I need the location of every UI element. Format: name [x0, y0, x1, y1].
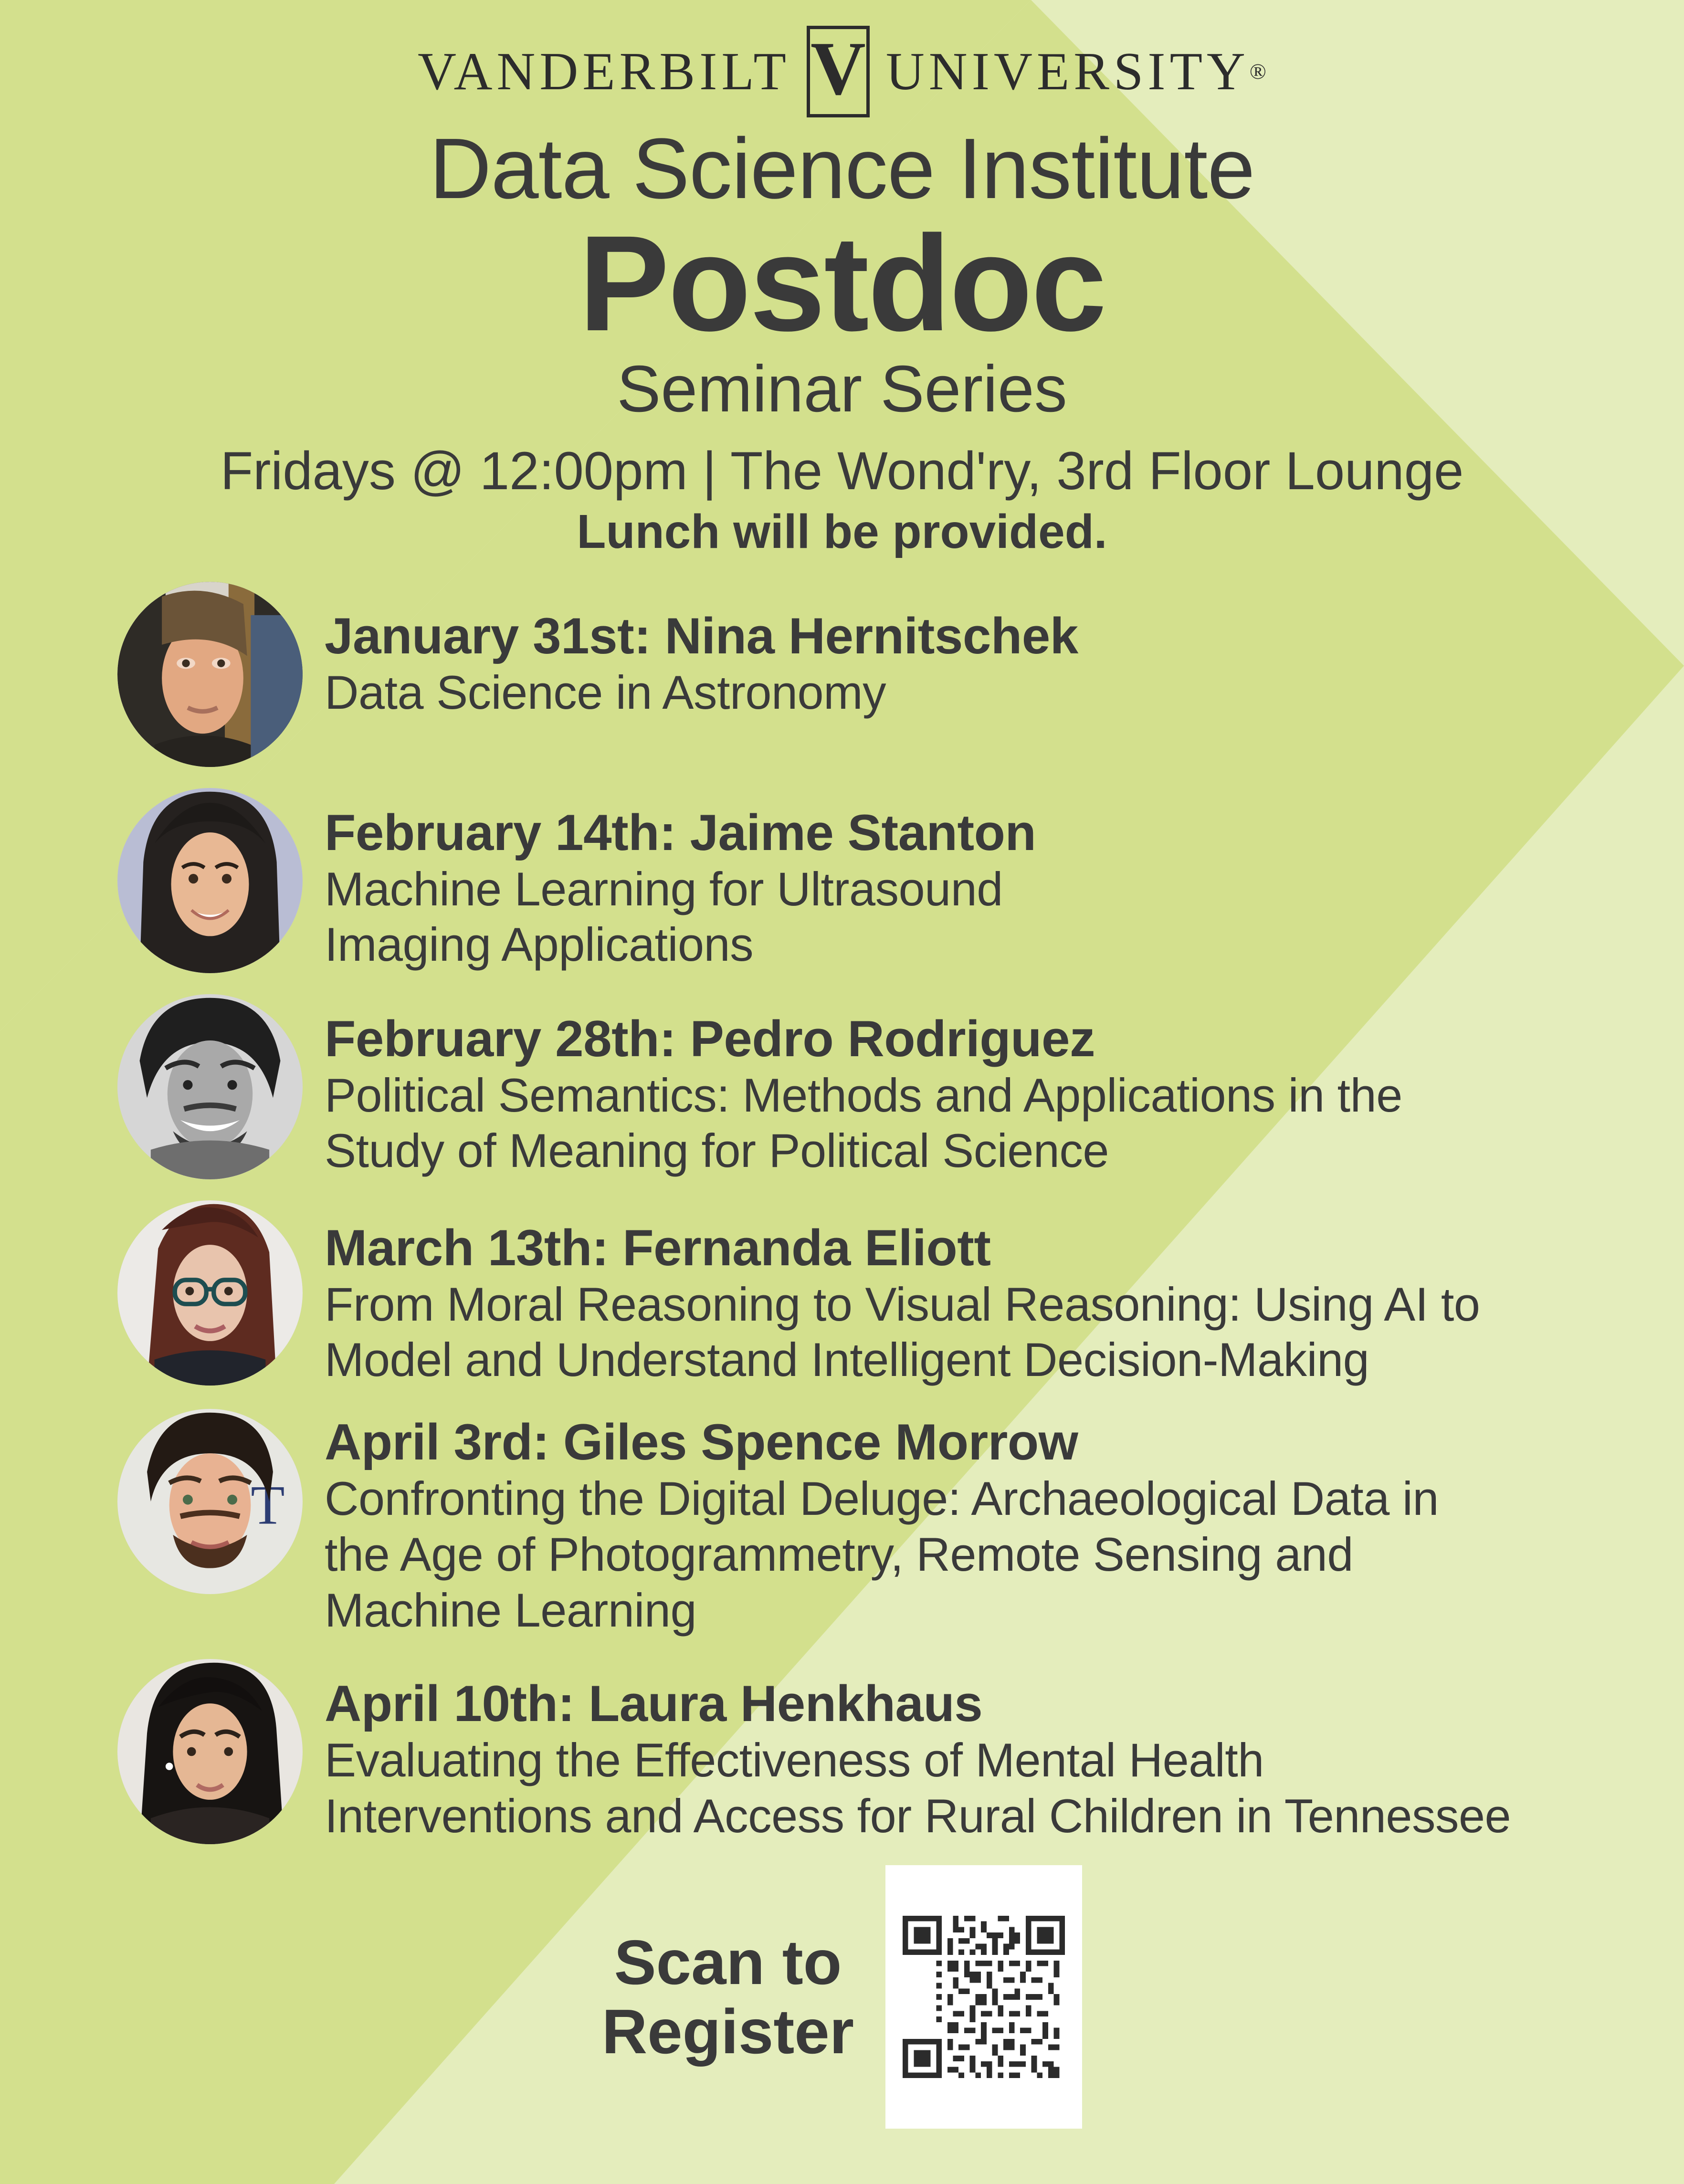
speaker-list: January 31st: Nina Hernitschek Data Scie… [0, 580, 1684, 1845]
speaker-headline: January 31st: Nina Hernitschek [325, 608, 1684, 665]
logo-word-university: UNIVERSITY® [886, 45, 1266, 98]
talk-line: Confronting the Digital Deluge: Archaeol… [325, 1471, 1684, 1527]
speaker-headline: April 3rd: Giles Spence Morrow [325, 1414, 1684, 1471]
list-item: February 14th: Jaime Stanton Machine Lea… [0, 788, 1684, 973]
speaker-headline: February 14th: Jaime Stanton [325, 804, 1684, 861]
talk-line: Political Semantics: Methods and Applica… [325, 1068, 1684, 1123]
logo-word-vanderbilt: VANDERBILT [418, 45, 790, 98]
institute-name: Data Science Institute [0, 125, 1684, 213]
registered-trademark-icon: ® [1250, 59, 1266, 84]
scan-line-1: Scan to [602, 1928, 854, 1997]
talk-line: Machine Learning for Ultrasound [325, 861, 1684, 917]
talk-line: Imaging Applications [325, 917, 1684, 973]
speaker-text: February 28th: Pedro Rodriguez Political… [325, 994, 1684, 1179]
list-item: January 31st: Nina Hernitschek Data Scie… [0, 580, 1684, 767]
avatar [117, 582, 303, 767]
speaker-headline: February 28th: Pedro Rodriguez [325, 1010, 1684, 1068]
talk-line: Study of Meaning for Political Science [325, 1123, 1684, 1179]
speaker-headline: March 13th: Fernanda Eliott [325, 1219, 1684, 1277]
avatar: T [117, 1409, 303, 1594]
list-item: T April 3rd: Giles Spence Morrow Confron… [0, 1409, 1684, 1638]
logo-v-letter: V [810, 30, 866, 106]
lunch-note: Lunch will be provided. [0, 505, 1684, 558]
speaker-text: April 10th: Laura Henkhaus Evaluating th… [325, 1659, 1684, 1844]
speaker-text: February 14th: Jaime Stanton Machine Lea… [325, 788, 1684, 973]
talk-line: Interventions and Access for Rural Child… [325, 1788, 1684, 1844]
page-subtitle: Seminar Series [0, 355, 1684, 424]
avatar [117, 1659, 303, 1844]
schedule-location-line: Fridays @ 12:00pm | The Wond'ry, 3rd Flo… [0, 441, 1684, 500]
page-title: Postdoc [0, 216, 1684, 352]
vanderbilt-university-logo: VANDERBILT V UNIVERSITY® [0, 29, 1684, 115]
scan-to-register-label: Scan to Register [602, 1928, 854, 2066]
scan-line-2: Register [602, 1997, 854, 2066]
talk-line: Model and Understand Intelligent Decisio… [325, 1332, 1684, 1388]
avatar [117, 1200, 303, 1386]
avatar [117, 994, 303, 1179]
speaker-headline: April 10th: Laura Henkhaus [325, 1675, 1684, 1732]
list-item: March 13th: Fernanda Eliott From Moral R… [0, 1200, 1684, 1388]
speaker-text: January 31st: Nina Hernitschek Data Scie… [325, 580, 1684, 721]
qr-code-card[interactable] [885, 1865, 1082, 2129]
speaker-text: March 13th: Fernanda Eliott From Moral R… [325, 1200, 1684, 1388]
talk-line: Machine Learning [325, 1583, 1684, 1638]
list-item: April 10th: Laura Henkhaus Evaluating th… [0, 1659, 1684, 1844]
logo-v-mark-icon: V [807, 26, 870, 117]
poster-header: VANDERBILT V UNIVERSITY® Data Science In… [0, 0, 1684, 558]
avatar [117, 788, 303, 973]
talk-line: Evaluating the Effectiveness of Mental H… [325, 1732, 1684, 1788]
talk-line: From Moral Reasoning to Visual Reasoning… [325, 1277, 1684, 1333]
talk-line: Data Science in Astronomy [325, 665, 1684, 721]
talk-line: the Age of Photogrammetry, Remote Sensin… [325, 1527, 1684, 1583]
qr-code-icon[interactable] [903, 1885, 1065, 2109]
registration-footer: Scan to Register [0, 1865, 1684, 2129]
speaker-text: April 3rd: Giles Spence Morrow Confronti… [325, 1409, 1684, 1638]
list-item: February 28th: Pedro Rodriguez Political… [0, 994, 1684, 1179]
